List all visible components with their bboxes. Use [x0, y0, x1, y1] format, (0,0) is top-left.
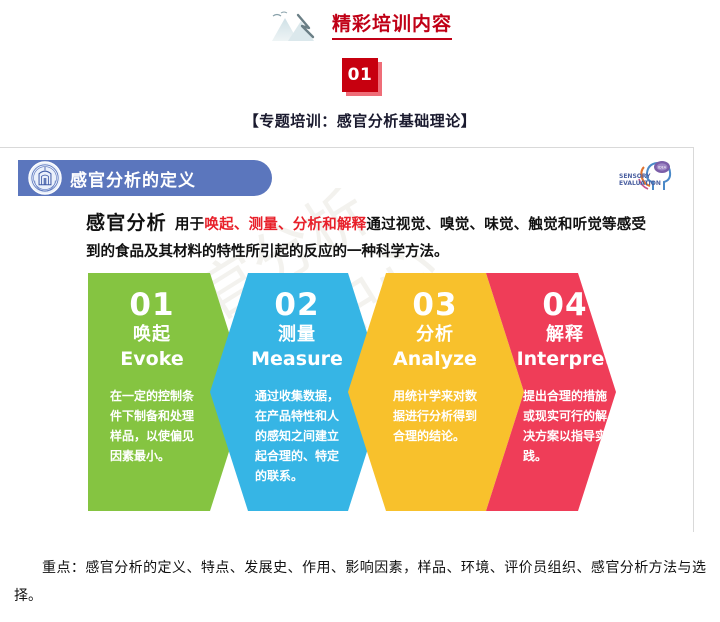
definition-pre: 用于	[175, 216, 204, 233]
step-2-label-cn: 测量	[278, 323, 316, 347]
footer-note: 重点：感官分析的定义、特点、发展史、作用、影响因素，样品、环境、评价员组织、感官…	[14, 554, 706, 610]
definition-highlight: 唤起、测量、分析和解释	[204, 216, 366, 233]
badge-number: 01	[342, 58, 378, 92]
title-underline	[332, 38, 452, 40]
definition-term: 感官分析	[86, 212, 167, 234]
process-chevron-band: 01 唤起 Evoke 在一定的控制条件下制备和处理样品，以使偏见因素最小。 0…	[88, 273, 616, 511]
mountain-bird-icon	[268, 7, 322, 45]
page-header: 精彩培训内容	[0, 0, 720, 44]
page-title: 精彩培训内容	[332, 12, 452, 36]
step-1-number: 01	[129, 287, 174, 323]
step-3-label-en: Analyze	[393, 347, 477, 372]
definition-post: 通过视觉、嗅觉、味觉、触觉和听觉等感受到的食品及其材料的特性所引起的反应的一种科…	[86, 216, 646, 260]
slide-title: 感官分析的定义	[70, 166, 196, 191]
step-4-number: 04	[542, 287, 587, 323]
step-2-description: 通过收集数据，在产品特性和人的感知之间建立起合理的、特定的联系。	[255, 386, 339, 486]
step-4-description: 提出合理的措施或现实可行的解决方案以指导实践。	[523, 386, 607, 466]
definition-paragraph: 感官分析用于唤起、测量、分析和解释通过视觉、嗅觉、味觉、触觉和听觉等感受到的食品…	[86, 210, 646, 265]
university-seal-logo	[28, 161, 62, 195]
se-logo-line1: SENSORY	[619, 173, 651, 180]
step-3-label-cn: 分析	[416, 323, 454, 347]
se-logo-line2: EVALUATION	[619, 180, 661, 187]
step-3-number: 03	[412, 287, 457, 323]
logo-mark-text: IDEA	[658, 166, 667, 170]
step-1-label-en: Evoke	[120, 347, 183, 372]
badge-row: 01	[0, 58, 720, 92]
slide-title-pill: 感官分析的定义	[18, 160, 272, 196]
step-3-description: 用统计学来对数据进行分析得到合理的结论。	[393, 386, 477, 446]
step-2-label-en: Measure	[251, 347, 343, 372]
sensory-evaluation-logo: IDEA SENSORY EVALUATION	[617, 156, 679, 194]
step-1-label-cn: 唤起	[133, 323, 171, 347]
step-2-number: 02	[274, 287, 319, 323]
step-1-description: 在一定的控制条件下制备和处理样品，以使偏见因素最小。	[110, 386, 194, 466]
section-number-badge: 01	[342, 58, 378, 92]
header-title-wrap: 精彩培训内容	[332, 12, 452, 40]
section-subtitle: 【专题培训：感官分析基础理论】	[0, 110, 720, 131]
slide-card: 感官分析 研究中心 感官分析的定义 IDEA SENSORY EVALUATIO…	[0, 147, 694, 532]
step-4-label-cn: 解释	[546, 323, 584, 347]
step-4-label-en: Interpret	[517, 347, 614, 372]
